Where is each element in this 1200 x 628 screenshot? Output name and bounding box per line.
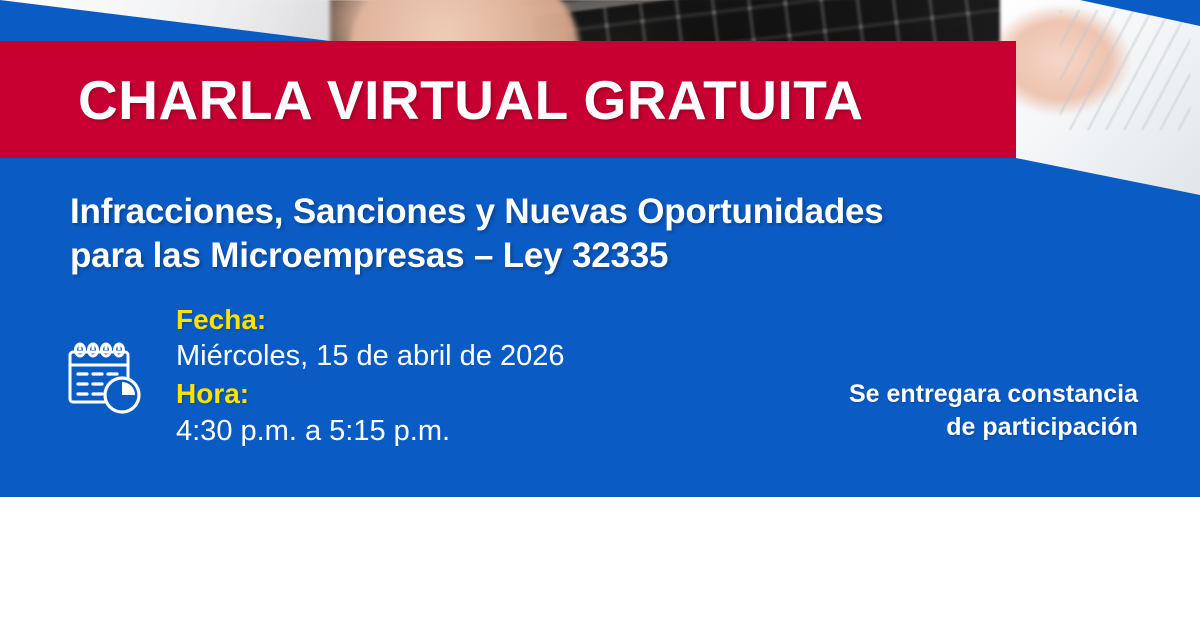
footer-bar: REPÚBLICA DEL PERÚ PERÚ Ministerio de Ec… — [0, 497, 1200, 628]
title-banner: CHARLA VIRTUAL GRATUITA — [0, 41, 1016, 159]
poster-canvas: CHARLA VIRTUAL GRATUITA Infracciones, Sa… — [0, 0, 1200, 628]
time-value: 4:30 p.m. a 5:15 p.m. — [176, 412, 696, 450]
certificate-note: Se entregara constancia de participación — [738, 378, 1138, 444]
certificate-note-line-1: Se entregara constancia — [738, 378, 1138, 411]
date-value: Miércoles, 15 de abril de 2026 — [176, 337, 696, 375]
page-title: CHARLA VIRTUAL GRATUITA — [78, 73, 864, 128]
event-details: Fecha: Miércoles, 15 de abril de 2026 Ho… — [176, 303, 696, 452]
subtitle-line-2: para las Microempresas – Ley 32335 — [70, 234, 1170, 278]
calendar-clock-icon — [62, 338, 148, 424]
date-label: Fecha: — [176, 303, 696, 337]
photo-fabric-detail — [1060, 10, 1190, 130]
subtitle-line-1: Infracciones, Sanciones y Nuevas Oportun… — [70, 190, 1170, 234]
event-subtitle: Infracciones, Sanciones y Nuevas Oportun… — [70, 190, 1170, 278]
certificate-note-line-2: de participación — [738, 411, 1138, 444]
time-label: Hora: — [176, 377, 696, 411]
